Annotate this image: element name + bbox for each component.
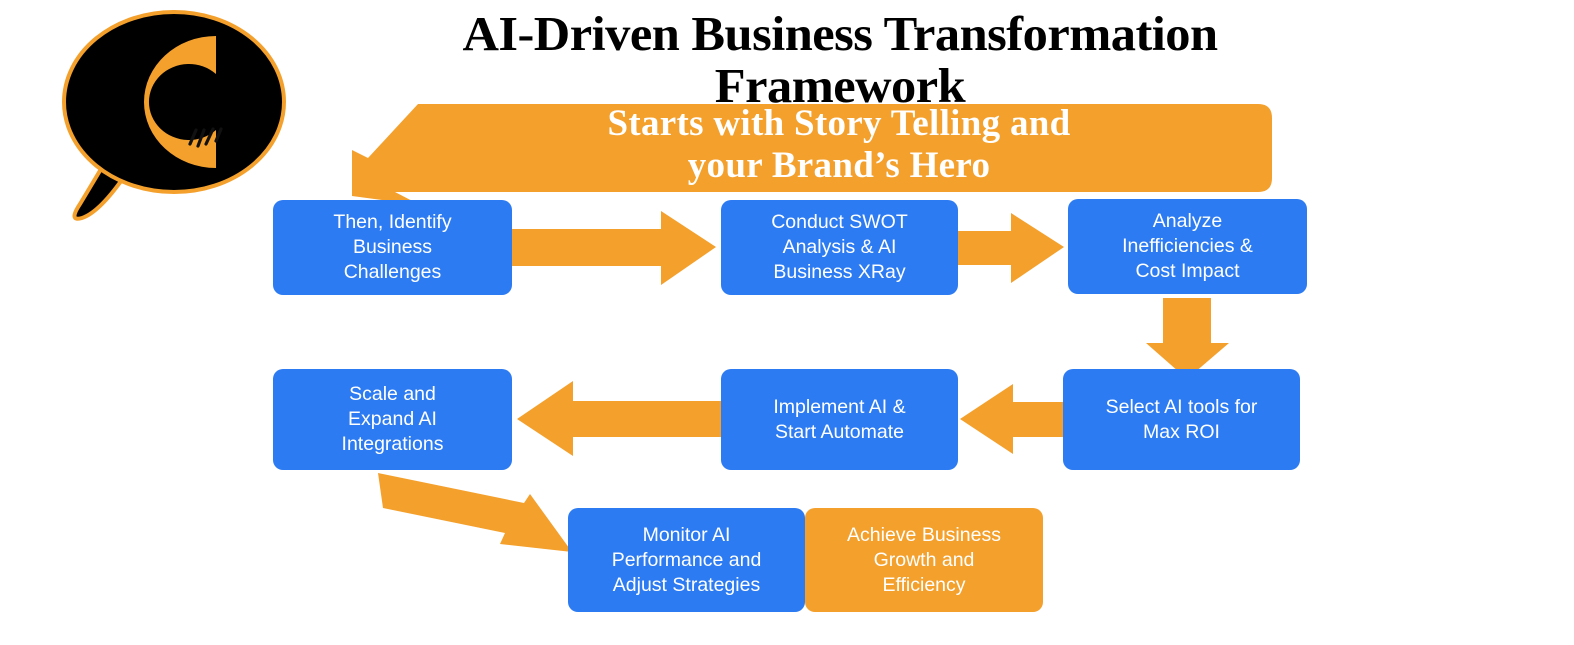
arrow-step2-to-step3 [958, 213, 1064, 283]
step-box-identify-business-challenges[interactable]: Then, Identify Business Challenges [273, 200, 512, 295]
step-box-select-ai-tools-max-roi[interactable]: Select AI tools for Max ROI [1063, 369, 1300, 470]
arrow-step1-to-step2 [512, 211, 716, 285]
step-box-implement-ai-start-automate[interactable]: Implement AI & Start Automate [721, 369, 958, 470]
step-box-achieve-business-growth[interactable]: Achieve Business Growth and Efficiency [805, 508, 1043, 612]
step-box-scale-expand-ai-integrations[interactable]: Scale and Expand AI Integrations [273, 369, 512, 470]
step-box-monitor-ai-performance[interactable]: Monitor AI Performance and Adjust Strate… [568, 508, 805, 612]
arrow-step4-to-step5 [960, 384, 1063, 454]
diagram-canvas: AI-Driven Business Transformation Framew… [0, 0, 1574, 645]
arrow-step5-to-step6 [517, 381, 721, 456]
banner-text: Starts with Story Telling and your Brand… [406, 103, 1272, 187]
step-box-analyze-inefficiencies[interactable]: Analyze Inefficiencies & Cost Impact [1068, 199, 1307, 294]
arrow-step3-to-step4 [1146, 298, 1229, 379]
step-box-conduct-swot-analysis[interactable]: Conduct SWOT Analysis & AI Business XRay [721, 200, 958, 295]
arrow-step6-to-step7 [378, 473, 572, 552]
